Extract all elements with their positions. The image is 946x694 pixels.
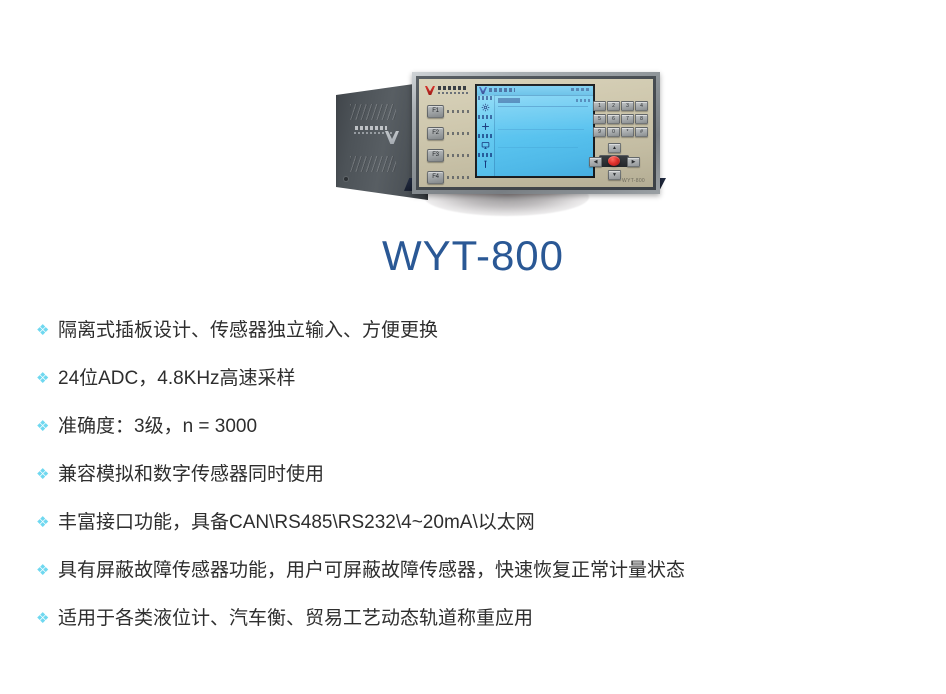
diamond-bullet-icon: ❖ bbox=[36, 558, 58, 584]
dpad-left-button[interactable]: ◀ bbox=[589, 157, 602, 167]
fkey-label-dots bbox=[447, 154, 469, 157]
device-front-panel: F1 F2 F3 F4 bbox=[419, 79, 653, 187]
feature-text: 兼容模拟和数字传感器同时使用 bbox=[58, 462, 324, 488]
screen-meta-text bbox=[576, 99, 590, 102]
side-logo-mark bbox=[385, 131, 399, 144]
screen-divider bbox=[498, 129, 584, 130]
vent-slots-top bbox=[350, 104, 396, 120]
list-item: ❖ 兼容模拟和数字传感器同时使用 bbox=[36, 462, 926, 510]
diamond-bullet-icon: ❖ bbox=[36, 366, 58, 392]
crosshair-icon[interactable] bbox=[477, 119, 494, 133]
feature-list: ❖ 隔离式插板设计、传感器独立输入、方便更换 ❖ 24位ADC，4.8KHz高速… bbox=[36, 318, 926, 654]
device-model-plate: WYT-800 bbox=[622, 178, 645, 184]
lcd-screen-frame bbox=[475, 84, 595, 178]
diamond-bullet-icon: ❖ bbox=[36, 510, 58, 536]
vent-slots-bottom bbox=[350, 156, 396, 172]
feature-text: 丰富接口功能，具备CAN\RS485\RS232\4~20mA\以太网 bbox=[58, 510, 535, 536]
gear-icon[interactable] bbox=[477, 100, 494, 114]
page-title: WYT-800 bbox=[0, 232, 946, 280]
keypad-key-8[interactable]: 8 bbox=[635, 114, 648, 124]
list-item: ❖ 适用于各类液位计、汽车衡、贸易工艺动态轨道称重应用 bbox=[36, 606, 926, 654]
screen-content-area bbox=[494, 95, 593, 176]
feature-text: 隔离式插板设计、传感器独立输入、方便更换 bbox=[58, 318, 438, 344]
diamond-bullet-icon: ❖ bbox=[36, 414, 58, 440]
feature-text: 准确度：3级，n = 3000 bbox=[58, 414, 257, 440]
list-item: ❖ 丰富接口功能，具备CAN\RS485\RS232\4~20mA\以太网 bbox=[36, 510, 926, 558]
product-image: F1 F2 F3 F4 bbox=[0, 0, 946, 228]
probe-icon[interactable] bbox=[477, 157, 494, 171]
function-key-f3[interactable]: F3 bbox=[427, 149, 444, 162]
keypad-key-5[interactable]: 5 bbox=[593, 114, 606, 124]
keypad-key-4[interactable]: 4 bbox=[635, 101, 648, 111]
feature-text: 具有屏蔽故障传感器功能，用户可屏蔽故障传感器，快速恢复正常计量状态 bbox=[58, 558, 685, 584]
keypad-key-star[interactable]: * bbox=[621, 127, 634, 137]
fkey-label-dots bbox=[447, 132, 469, 135]
diamond-bullet-icon: ❖ bbox=[36, 318, 58, 344]
screen-active-tab[interactable] bbox=[498, 98, 520, 103]
list-item: ❖ 24位ADC，4.8KHz高速采样 bbox=[36, 366, 926, 414]
screen-logo-icon bbox=[479, 87, 487, 94]
function-key-f1[interactable]: F1 bbox=[427, 105, 444, 118]
numeric-keypad: 1 2 3 4 5 6 7 8 9 0 * # bbox=[593, 101, 646, 137]
function-key-f4[interactable]: F4 bbox=[427, 171, 444, 184]
side-screw bbox=[344, 177, 348, 181]
dpad-up-button[interactable]: ▲ bbox=[608, 143, 621, 153]
screen-divider bbox=[498, 147, 578, 148]
keypad-key-hash[interactable]: # bbox=[635, 127, 648, 137]
dpad-down-button[interactable]: ▼ bbox=[608, 170, 621, 180]
list-item: ❖ 具有屏蔽故障传感器功能，用户可屏蔽故障传感器，快速恢复正常计量状态 bbox=[36, 558, 926, 606]
side-brand-logo bbox=[353, 126, 397, 148]
dpad-right-button[interactable]: ▶ bbox=[627, 157, 640, 167]
keypad-key-1[interactable]: 1 bbox=[593, 101, 606, 111]
device-bezel: F1 F2 F3 F4 bbox=[412, 72, 660, 194]
fkey-label-dots bbox=[447, 176, 469, 179]
screen-title-text bbox=[489, 88, 515, 92]
list-item: ❖ 隔离式插板设计、传感器独立输入、方便更换 bbox=[36, 318, 926, 366]
feature-text: 24位ADC，4.8KHz高速采样 bbox=[58, 366, 296, 392]
fkey-label-dots bbox=[447, 110, 469, 113]
function-key-f2[interactable]: F2 bbox=[427, 127, 444, 140]
keypad-key-2[interactable]: 2 bbox=[607, 101, 620, 111]
direction-pad: ▲ ◀ ▶ ▼ bbox=[589, 141, 639, 181]
diamond-bullet-icon: ❖ bbox=[36, 462, 58, 488]
keypad-key-9[interactable]: 9 bbox=[593, 127, 606, 137]
dpad-ok-button[interactable] bbox=[608, 156, 620, 166]
screen-status-text bbox=[571, 88, 591, 91]
list-item: ❖ 准确度：3级，n = 3000 bbox=[36, 414, 926, 462]
front-brand-logo bbox=[425, 85, 469, 96]
screen-divider bbox=[498, 106, 588, 107]
keypad-key-6[interactable]: 6 bbox=[607, 114, 620, 124]
keypad-key-7[interactable]: 7 bbox=[621, 114, 634, 124]
screen-sidebar[interactable] bbox=[477, 95, 495, 176]
monitor-icon[interactable] bbox=[477, 138, 494, 152]
keypad-key-3[interactable]: 3 bbox=[621, 101, 634, 111]
diamond-bullet-icon: ❖ bbox=[36, 606, 58, 632]
keypad-key-0[interactable]: 0 bbox=[607, 127, 620, 137]
brand-mark-icon bbox=[425, 86, 435, 95]
feature-text: 适用于各类液位计、汽车衡、贸易工艺动态轨道称重应用 bbox=[58, 606, 533, 632]
function-key-column: F1 F2 F3 F4 bbox=[427, 105, 469, 193]
lcd-screen[interactable] bbox=[477, 86, 593, 176]
